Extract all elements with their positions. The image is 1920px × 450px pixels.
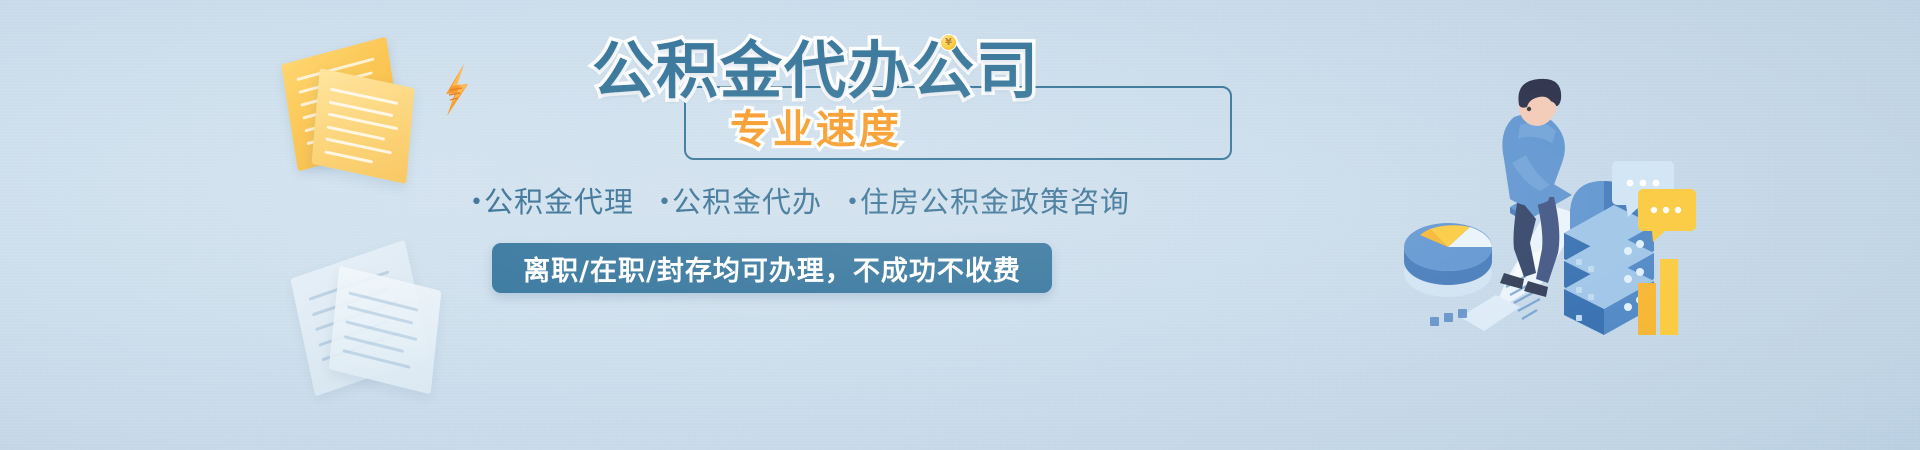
promo-banner: 公积金代办公司 ¥ 专业速度 •公积金代理•公积金代办•住房公积金政策咨询 离职…: [0, 0, 1920, 450]
person-with-laptop-illustration: [1400, 55, 1700, 345]
service-label: 公积金代办: [672, 185, 822, 219]
cta-label: 离职/在职/封存均可办理，不成功不收费: [523, 249, 1021, 288]
bullet-dot-icon: •: [658, 190, 672, 215]
page-subtitle: 专业速度: [556, 104, 1076, 156]
bullet-dot-icon: •: [470, 190, 484, 215]
list-item: •公积金代理: [470, 185, 634, 219]
page-title: 公积金代办公司: [556, 36, 1076, 106]
gold-document-sheet-front: [312, 68, 415, 184]
coin-yen-icon: ¥: [940, 34, 957, 51]
service-list: •公积金代理•公积金代办•住房公积金政策咨询: [420, 182, 1180, 223]
service-label: 住房公积金政策咨询: [860, 185, 1130, 219]
list-item: •公积金代办: [658, 185, 822, 219]
cta-badge[interactable]: 离职/在职/封存均可办理，不成功不收费: [492, 243, 1052, 293]
orange-arrow-icon: [440, 64, 474, 116]
headline-block: 公积金代办公司 ¥ 专业速度: [556, 36, 1076, 156]
bullet-dot-icon: •: [846, 190, 860, 215]
list-item: •住房公积金政策咨询: [846, 185, 1130, 219]
service-label: 公积金代理: [484, 185, 634, 219]
